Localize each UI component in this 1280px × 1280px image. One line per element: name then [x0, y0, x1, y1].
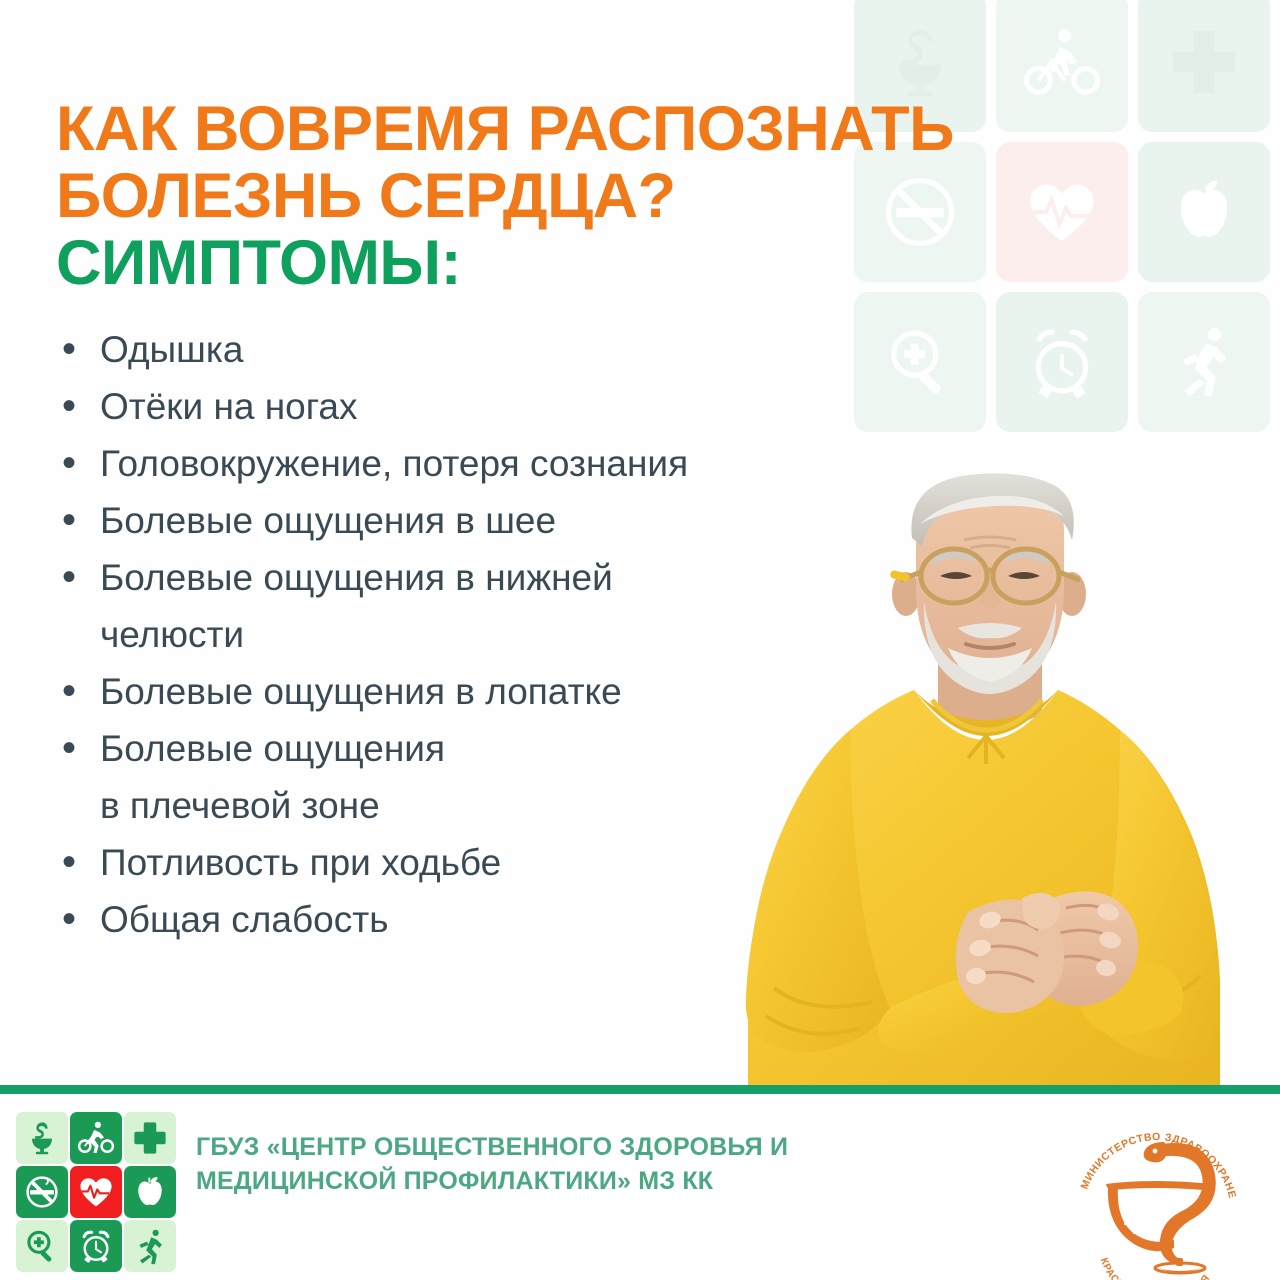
- medical-cross-icon: [124, 1112, 176, 1164]
- headline-line-3: СИМПТОМЫ:: [56, 230, 954, 297]
- symptoms-list: • Одышка • Отёки на ногах • Головокружен…: [56, 322, 956, 949]
- list-item: • Общая слабость: [56, 892, 956, 947]
- list-item: • Болевые ощущения в нижней: [56, 550, 956, 605]
- footer-divider: [0, 1085, 1280, 1094]
- alarm-clock-icon: [70, 1220, 122, 1272]
- list-item: • Одышка: [56, 322, 956, 377]
- bowl-of-hygieia-icon: [16, 1112, 68, 1164]
- symptom-text: Одышка: [100, 322, 956, 377]
- ministry-of-health-logo: МИНИСТЕРСТВО ЗДРАВООХРАНЕНИЯ КРАСНОДАРСК…: [1062, 1098, 1252, 1280]
- headline-line-1: КАК ВОВРЕМЯ РАСПОЗНАТЬ: [56, 96, 954, 163]
- list-item-continuation: • в плечевой зоне: [56, 778, 956, 833]
- poster-root: КАК ВОВРЕМЯ РАСПОЗНАТЬ БОЛЕЗНЬ СЕРДЦА? С…: [0, 0, 1280, 1280]
- organization-name: ГБУЗ «ЦЕНТР ОБЩЕСТВЕННОГО ЗДОРОВЬЯ И МЕД…: [196, 1130, 956, 1198]
- bullet-dot-icon: •: [56, 436, 100, 491]
- list-item: • Болевые ощущения в лопатке: [56, 664, 956, 719]
- symptom-text: Болевые ощущения в нижней: [100, 550, 956, 605]
- symptom-text: Болевые ощущения: [100, 721, 956, 776]
- symptom-text: Болевые ощущения в шее: [100, 493, 956, 548]
- apple-icon: [124, 1166, 176, 1218]
- list-item: • Болевые ощущения: [56, 721, 956, 776]
- symptom-text: Болевые ощущения в лопатке: [100, 664, 956, 719]
- headline-line-2: БОЛЕЗНЬ СЕРДЦА?: [56, 163, 954, 230]
- bullet-dot-icon: •: [56, 835, 100, 890]
- heart-pulse-icon: [70, 1166, 122, 1218]
- watermark-medical-cross-icon: [1138, 0, 1270, 132]
- list-item-continuation: • челюсти: [56, 607, 956, 662]
- list-item: • Головокружение, потеря сознания: [56, 436, 956, 491]
- list-item: • Болевые ощущения в шее: [56, 493, 956, 548]
- symptom-text-continuation: челюсти: [100, 607, 956, 662]
- watermark-cyclist-icon: [996, 0, 1128, 132]
- bullet-dot-icon: •: [56, 892, 100, 947]
- bullet-dot-icon: •: [56, 550, 100, 605]
- no-smoking-icon: [16, 1166, 68, 1218]
- symptom-text: Потливость при ходьбе: [100, 835, 956, 890]
- bullet-dot-icon: •: [56, 379, 100, 434]
- list-item: • Потливость при ходьбе: [56, 835, 956, 890]
- magnifier-plus-icon: [16, 1220, 68, 1272]
- symptom-text: Отёки на ногах: [100, 379, 956, 434]
- bullet-dot-icon: •: [56, 322, 100, 377]
- watermark-apple-icon: [1138, 142, 1270, 282]
- symptom-text: Общая слабость: [100, 892, 956, 947]
- bullet-dot-icon: •: [56, 493, 100, 548]
- bullet-dot-icon: •: [56, 664, 100, 719]
- bullet-dot-icon: •: [56, 721, 100, 776]
- symptom-text: Головокружение, потеря сознания: [100, 436, 956, 491]
- list-item: • Отёки на ногах: [56, 379, 956, 434]
- runner-icon: [124, 1220, 176, 1272]
- organization-name-line-1: ГБУЗ «ЦЕНТР ОБЩЕСТВЕННОГО ЗДОРОВЬЯ И: [196, 1130, 956, 1164]
- headline-block: КАК ВОВРЕМЯ РАСПОЗНАТЬ БОЛЕЗНЬ СЕРДЦА? С…: [56, 96, 954, 297]
- footer: ГБУЗ «ЦЕНТР ОБЩЕСТВЕННОГО ЗДОРОВЬЯ И МЕД…: [0, 1094, 1280, 1280]
- watermark-runner-icon: [1138, 292, 1270, 432]
- footer-icon-grid: [16, 1112, 176, 1272]
- watermark-heart-pulse-icon: [996, 142, 1128, 282]
- cyclist-icon: [70, 1112, 122, 1164]
- organization-name-line-2: МЕДИЦИНСКОЙ ПРОФИЛАКТИКИ» МЗ КК: [196, 1164, 956, 1198]
- watermark-alarm-clock-icon: [996, 292, 1128, 432]
- symptom-text-continuation: в плечевой зоне: [100, 778, 956, 833]
